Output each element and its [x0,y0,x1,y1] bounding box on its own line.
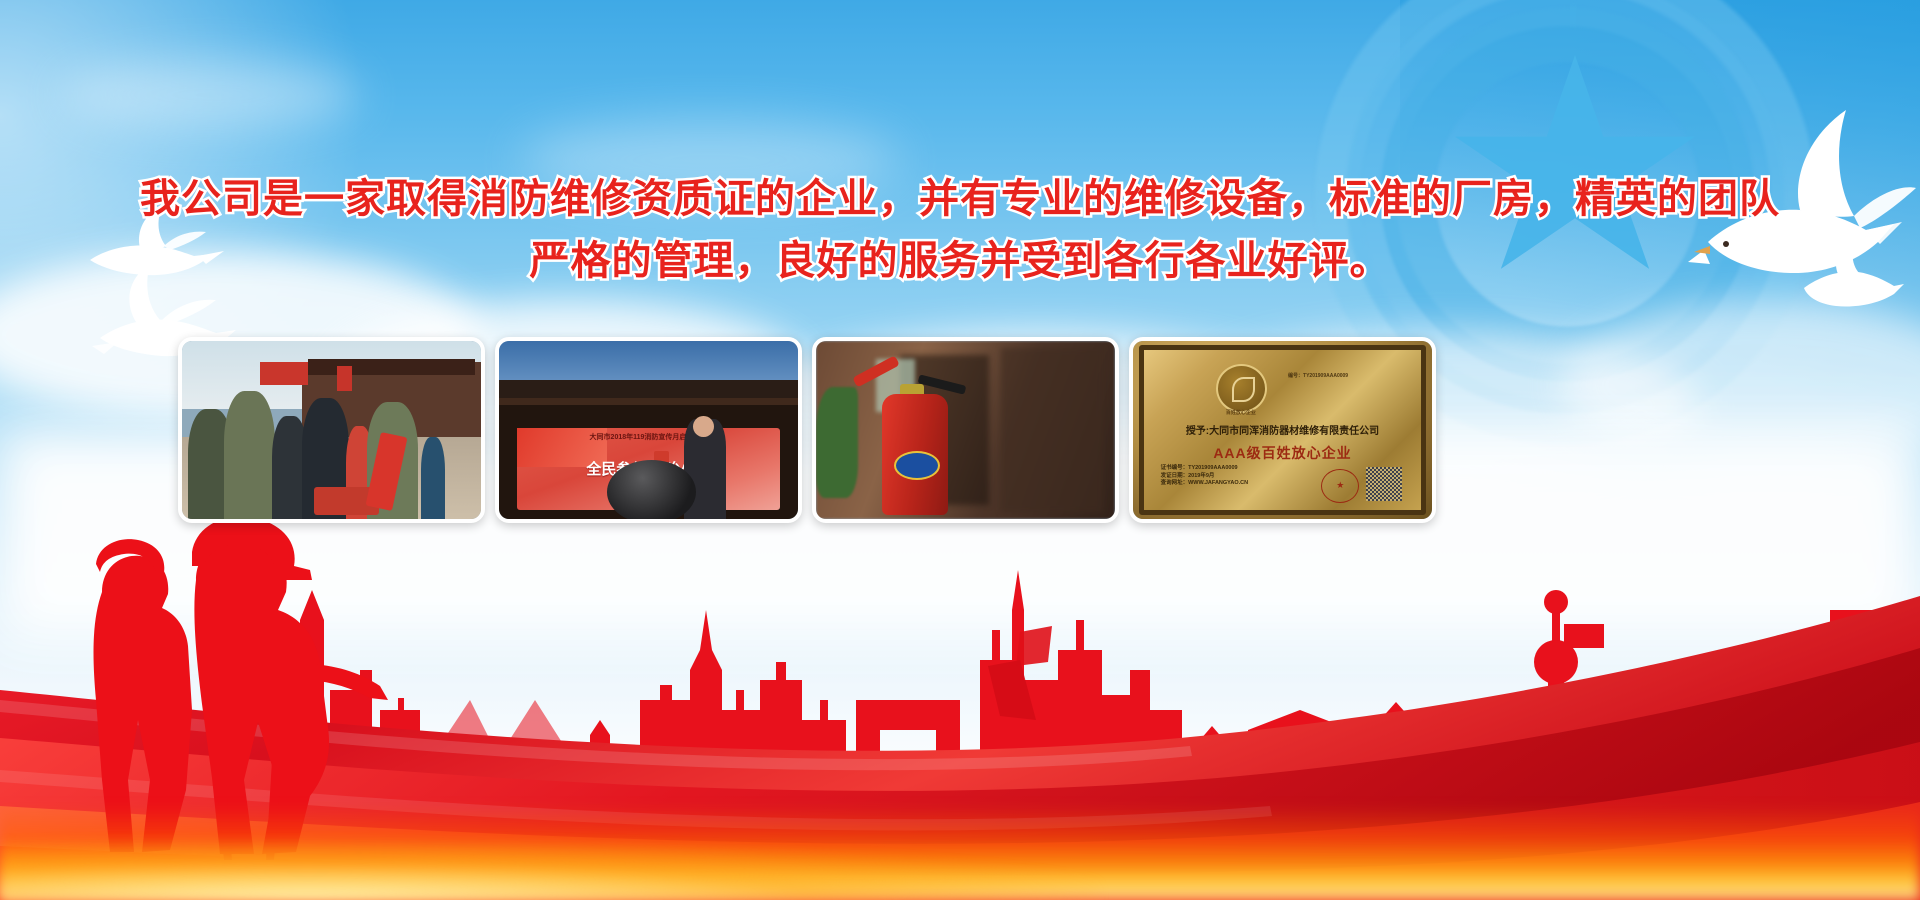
photo-extinguisher-image [816,341,1115,519]
golden-glow-hotspot [0,840,1100,900]
plaque-seal-icon [1321,469,1359,503]
cloud-wisp-top-left [60,60,360,130]
plaque-awarded-to: 授予:大同市同浑消防器材维修有限责任公司 [1155,422,1410,437]
photo-inspection-image [182,341,481,519]
banner-root: 我公司是一家取得消防维修资质证的企业，并有专业的维修设备，标准的厂房，精英的团队… [0,0,1920,900]
photo-certificate-image: 百姓放心企业 编号：TY201909AAA0009 授予:大同市同浑消防器材维修… [1133,341,1432,519]
plaque-title: AAA级百姓放心企业 [1155,443,1410,463]
photo-card-ceremony[interactable]: 大同市2018年119消防宣传月启动仪式 全民参与 防治火灾 [495,337,802,523]
photo-card-certificate[interactable]: 百姓放心企业 编号：TY201909AAA0009 授予:大同市同浑消防器材维修… [1129,337,1436,523]
ceremony-banner-title: 大同市2018年119消防宣传月启动仪式 [517,432,780,442]
plaque-emblem-icon [1216,364,1267,413]
bottom-scene [0,480,1920,900]
headline-line-1: 我公司是一家取得消防维修资质证的企业，并有专业的维修设备，标准的厂房，精英的团队 [0,168,1920,230]
plaque-cert-no: 证书编号：TY201909AAA0009 [1161,465,1249,473]
photo-gallery: 大同市2018年119消防宣传月启动仪式 全民参与 防治火灾 百姓放心企业 编号… [0,337,1920,527]
plaque-query-url: 查询网址：WWW.JAFANGYAO.CN [1161,480,1249,488]
photo-ceremony-image: 大同市2018年119消防宣传月启动仪式 全民参与 防治火灾 [499,341,798,519]
photo-card-extinguisher[interactable] [812,337,1119,523]
plaque-emblem-text: 百姓放心企业 [1199,409,1282,416]
headline-line-2: 严格的管理，良好的服务并受到各行各业好评。 [0,230,1920,292]
headline-block: 我公司是一家取得消防维修资质证的企业，并有专业的维修设备，标准的厂房，精英的团队… [0,168,1920,292]
plaque-serial-top: 编号：TY201909AAA0009 [1288,372,1415,379]
photo-card-inspection[interactable] [178,337,485,523]
plaque-qr-code-icon [1366,467,1402,501]
